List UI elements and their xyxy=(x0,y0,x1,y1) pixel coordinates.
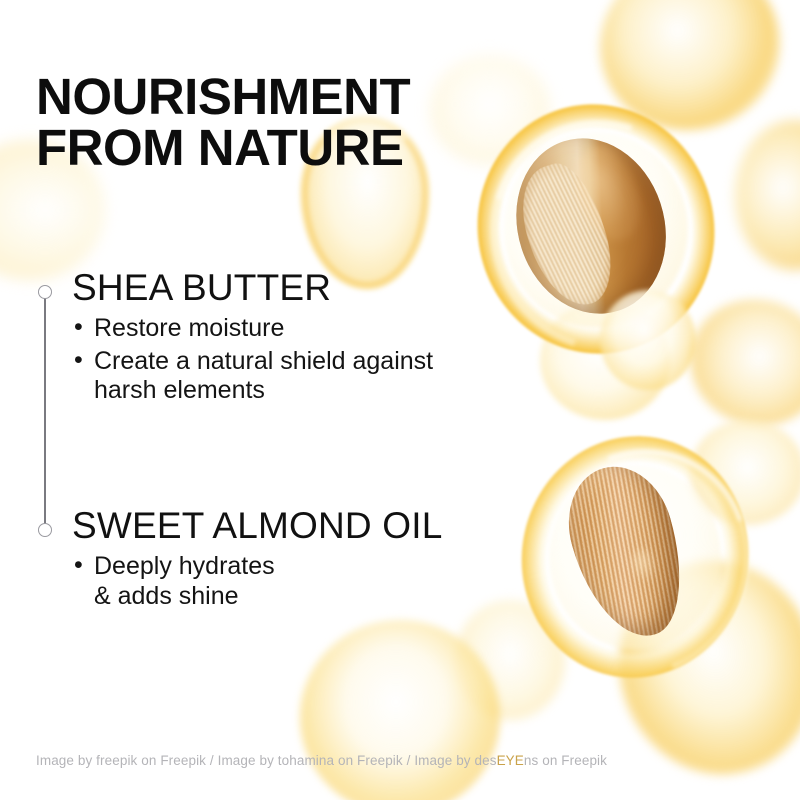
credit-part-3-prefix: Image by des xyxy=(414,753,496,768)
benefit-list: Deeply hydrates & adds shine xyxy=(72,552,443,612)
list-item: Create a natural shield against harsh el… xyxy=(72,347,433,407)
image-credits: Image by freepik on Freepik / Image by t… xyxy=(36,753,607,768)
credit-part-1: Image by freepik on Freepik xyxy=(36,753,206,768)
list-item: Deeply hydrates & adds shine xyxy=(72,552,443,612)
section-heading: SHEA BUTTER xyxy=(72,268,433,308)
credit-part-3-highlight: EYE xyxy=(497,753,524,768)
timeline-connector-line xyxy=(44,292,46,530)
circle-outline-icon xyxy=(38,523,52,537)
credit-part-2: Image by tohamina on Freepik xyxy=(218,753,403,768)
page-title: NOURISHMENT FROM NATURE xyxy=(36,72,556,173)
credit-separator-2: / xyxy=(403,753,415,768)
poster-content: NOURISHMENT FROM NATURE SHEA BUTTER Rest… xyxy=(0,0,800,800)
section-shea-butter: SHEA BUTTER Restore moisture Create a na… xyxy=(72,268,433,409)
credit-part-3-suffix: ns on Freepik xyxy=(524,753,607,768)
section-sweet-almond-oil: SWEET ALMOND OIL Deeply hydrates & adds … xyxy=(72,506,443,614)
list-item: Restore moisture xyxy=(72,314,433,344)
section-heading: SWEET ALMOND OIL xyxy=(72,506,443,546)
circle-outline-icon xyxy=(38,285,52,299)
credit-separator-1: / xyxy=(206,753,218,768)
poster-canvas: NOURISHMENT FROM NATURE SHEA BUTTER Rest… xyxy=(0,0,800,800)
benefit-list: Restore moisture Create a natural shield… xyxy=(72,314,433,406)
